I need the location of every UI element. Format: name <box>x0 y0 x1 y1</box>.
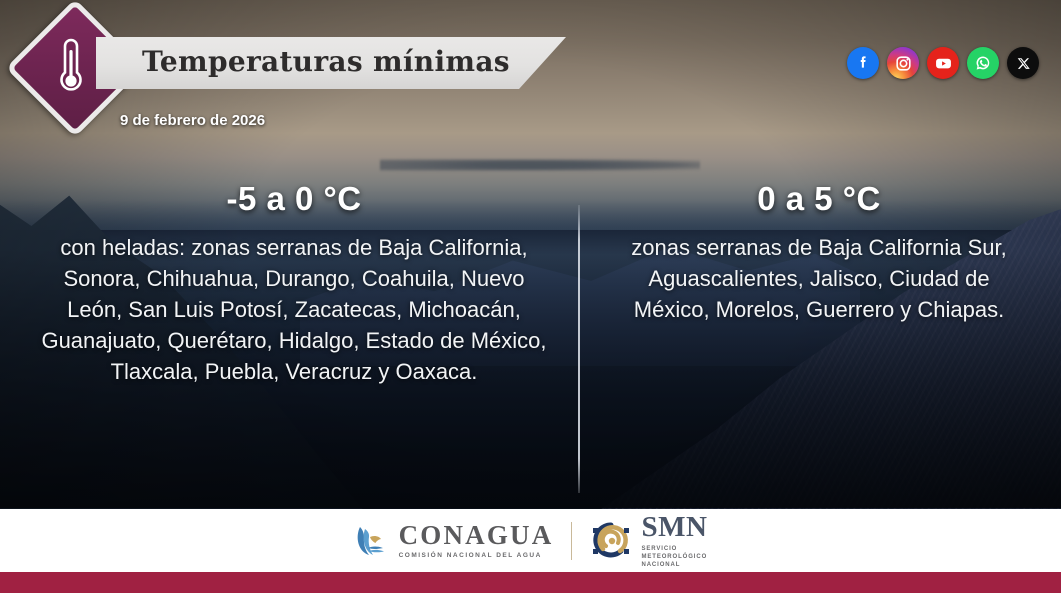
smn-wordmark: SMN <box>641 513 707 542</box>
zones-text-left: con heladas: zonas serranas de Baja Cali… <box>34 232 554 387</box>
facebook-icon[interactable] <box>847 47 879 79</box>
footer-logo-bar: CONAGUA COMISIÓN NACIONAL DEL AGUA SMN S… <box>0 509 1061 572</box>
youtube-glyph <box>933 53 954 74</box>
date-label: 9 de febrero de 2026 <box>120 112 265 129</box>
conagua-subtitle: COMISIÓN NACIONAL DEL AGUA <box>399 552 554 559</box>
temperature-infographic: Temperaturas mínimas 9 de febrero de 202… <box>0 0 1061 593</box>
instagram-glyph <box>894 54 913 73</box>
brand-accent-bar <box>0 572 1061 593</box>
page-title: Temperaturas mínimas <box>142 45 542 78</box>
conagua-wordmark: CONAGUA <box>399 522 554 549</box>
column-divider <box>578 205 580 493</box>
facebook-glyph <box>853 53 873 73</box>
smn-subtitle-line2: METEOROLÓGICO <box>641 553 707 561</box>
conagua-logo: CONAGUA COMISIÓN NACIONAL DEL AGUA <box>354 522 554 559</box>
zones-text-right: zonas serranas de Baja California Sur, A… <box>604 232 1034 325</box>
whatsapp-icon[interactable] <box>967 47 999 79</box>
smn-subtitle-line1: SERVICIO <box>641 545 707 553</box>
temperature-column-left: -5 a 0 °C con heladas: zonas serranas de… <box>34 180 554 387</box>
social-links <box>847 47 1039 79</box>
thermometer-icon <box>55 36 87 94</box>
conagua-eagle-water-icon <box>354 524 390 558</box>
smn-subtitle-line3: NACIONAL <box>641 561 707 569</box>
instagram-icon[interactable] <box>887 47 919 79</box>
temperature-range-left: -5 a 0 °C <box>34 180 554 218</box>
youtube-icon[interactable] <box>927 47 959 79</box>
x-icon[interactable] <box>1007 47 1039 79</box>
temperature-column-right: 0 a 5 °C zonas serranas de Baja Californ… <box>604 180 1034 325</box>
logo-separator <box>571 522 572 560</box>
smn-logo: SMN SERVICIO METEOROLÓGICO NACIONAL <box>590 513 707 569</box>
whatsapp-glyph <box>973 53 993 73</box>
smn-spiral-icon <box>590 522 632 560</box>
x-glyph <box>1015 55 1032 72</box>
temperature-range-right: 0 a 5 °C <box>604 180 1034 218</box>
